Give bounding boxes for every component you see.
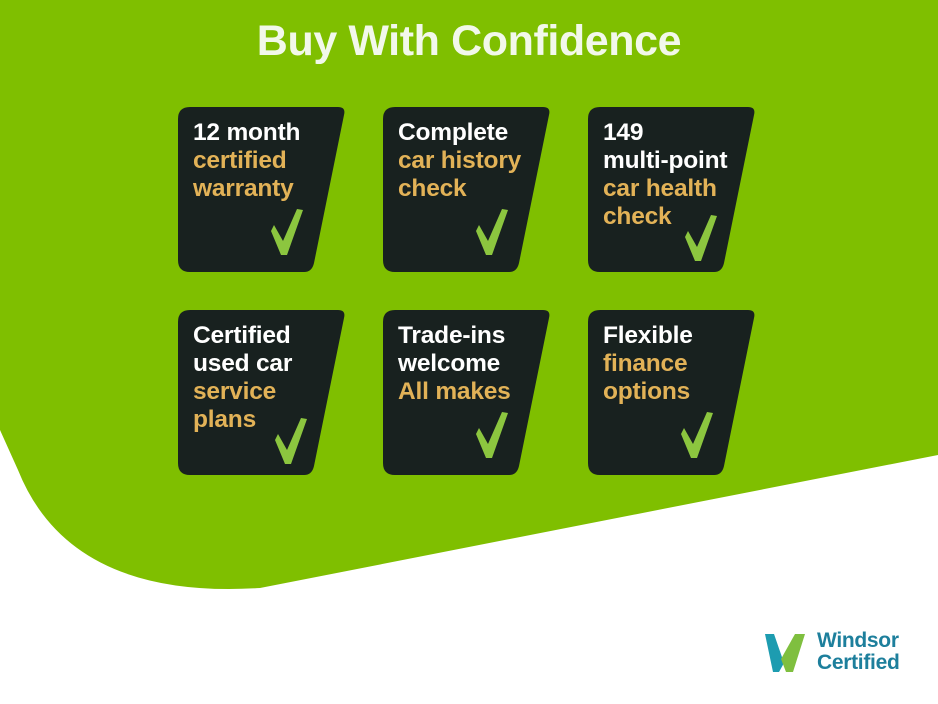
check-icon (270, 209, 304, 257)
card-line: car health (603, 175, 743, 203)
card-line: All makes (398, 378, 538, 406)
card-line: Certified (193, 322, 333, 350)
card-text: 12 monthcertifiedwarranty (193, 119, 333, 203)
card-149-multi-point-car-health-check[interactable]: 149multi-pointcar healthcheck (588, 107, 756, 272)
card-line: welcome (398, 350, 538, 378)
card-line: finance (603, 350, 743, 378)
card-text: Trade-inswelcomeAll makes (398, 322, 538, 406)
card-flexible-finance-options[interactable]: Flexiblefinanceoptions (588, 310, 756, 475)
feature-card-grid: 12 monthcertifiedwarrantyCompletecar his… (178, 107, 758, 487)
card-line: certified (193, 147, 333, 175)
card-line: 12 month (193, 119, 333, 147)
check-icon (684, 215, 718, 263)
card-line: plans (193, 406, 333, 434)
card-text: Certifiedused carserviceplans (193, 322, 333, 434)
card-complete-car-history-check[interactable]: Completecar historycheck (383, 107, 551, 272)
brand-logo-line2: Certified (817, 652, 899, 674)
check-icon (274, 418, 308, 466)
card-line: multi-point (603, 147, 743, 175)
card-line: Flexible (603, 322, 743, 350)
page-title: Buy With Confidence (0, 17, 938, 66)
card-line: check (398, 175, 538, 203)
poster-canvas: Buy With Confidence 12 monthcertifiedwar… (0, 0, 938, 704)
card-line: service (193, 378, 333, 406)
card-line: check (603, 203, 743, 231)
card-line: used car (193, 350, 333, 378)
brand-logo-line1: Windsor (817, 630, 899, 652)
card-line: 149 (603, 119, 743, 147)
card-text: Flexiblefinanceoptions (603, 322, 743, 406)
check-icon (680, 412, 714, 460)
card-line: Complete (398, 119, 538, 147)
card-trade-ins-welcome-all-makes[interactable]: Trade-inswelcomeAll makes (383, 310, 551, 475)
card-line: options (603, 378, 743, 406)
card-text: 149multi-pointcar healthcheck (603, 119, 743, 231)
brand-logo: Windsor Certified (762, 626, 930, 678)
card-line: Trade-ins (398, 322, 538, 350)
brand-logo-text: Windsor Certified (817, 630, 899, 673)
card-line: car history (398, 147, 538, 175)
card-line: warranty (193, 175, 333, 203)
windsor-w-icon (762, 631, 808, 673)
card-certified-used-car-service-plans[interactable]: Certifiedused carserviceplans (178, 310, 346, 475)
check-icon (475, 412, 509, 460)
card-12-month-certified-warranty[interactable]: 12 monthcertifiedwarranty (178, 107, 346, 272)
card-text: Completecar historycheck (398, 119, 538, 203)
check-icon (475, 209, 509, 257)
